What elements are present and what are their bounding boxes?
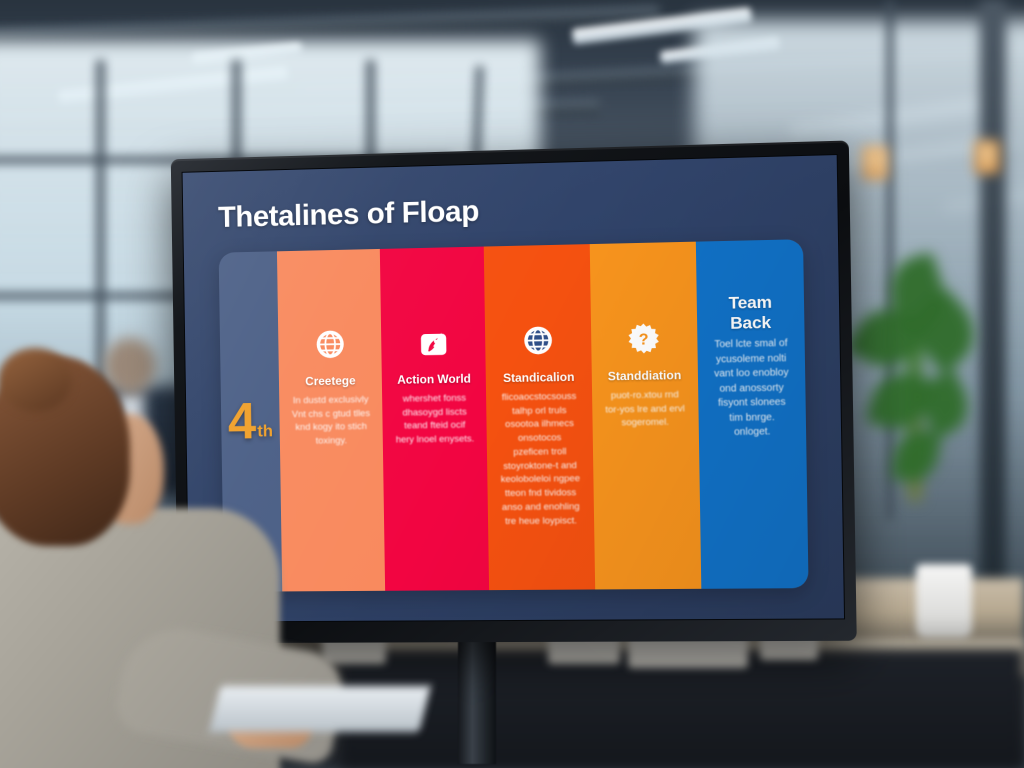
office-scene: Thetalines of Floap 4 th: [0, 0, 1024, 768]
globe-icon: [521, 323, 556, 358]
card-3-heading: Standicalion: [503, 371, 575, 386]
monitor-stand-neck: [458, 628, 496, 764]
card-4-body: puot-ro.xtou rnd tor-yos lre and ervl so…: [604, 388, 687, 431]
card-4-heading: Standdiation: [608, 369, 682, 384]
card-3[interactable]: Standicalion flicoaocstocsouss talhp orl…: [484, 244, 595, 590]
card-5[interactable]: Team Back Toel lcte smal of ycusoleme no…: [696, 239, 809, 589]
desk-cup: [916, 564, 972, 638]
question-badge-icon: ?: [626, 321, 661, 356]
card-4[interactable]: ? Standdiation puot-ro.xtou rnd tor-yos …: [589, 242, 701, 590]
pendant-lamp: [974, 140, 1000, 174]
page-title: Thetalines of Floap: [218, 186, 803, 234]
cards-container: Creetege In dustd exclusivly Vnt chs c g…: [277, 239, 809, 591]
card-5-body: Toel lcte smal of ycusoleme nolti vant l…: [709, 337, 794, 441]
svg-text:?: ?: [639, 331, 649, 348]
plant-leaf: [891, 427, 942, 485]
rocket-launch-icon: [416, 325, 450, 359]
pendant-lamp: [862, 146, 888, 180]
card-2-body: whershet fonss dhasoygd liscts teand fte…: [394, 391, 475, 447]
card-3-body: flicoaocstocsouss talhp orl truls osooto…: [498, 390, 581, 529]
potted-plant: [838, 252, 988, 502]
card-5-heading: Team Back: [709, 292, 793, 333]
person-hair-bun: [0, 348, 72, 412]
laptop[interactable]: [209, 686, 430, 732]
card-2-heading: Action World: [397, 373, 471, 388]
card-2[interactable]: Action World whershet fonss dhasoygd lis…: [380, 247, 490, 591]
